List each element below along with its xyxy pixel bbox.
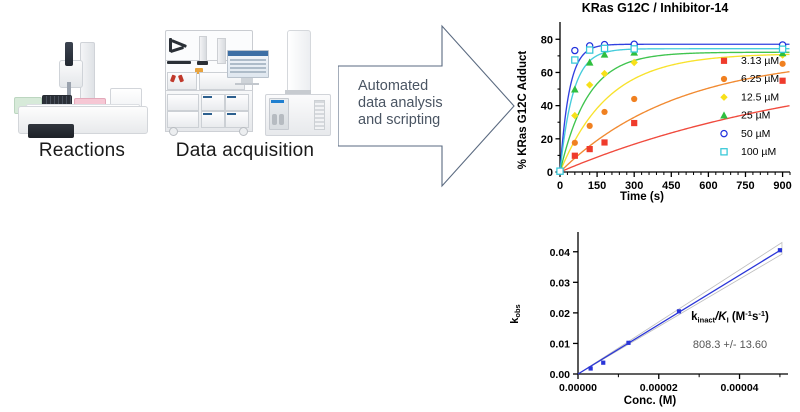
kinetics-y-tick-label: 60 (541, 67, 553, 79)
arrow-caption-line-2: data analysis (358, 95, 462, 112)
data-point-marker (601, 45, 607, 51)
data-point-marker (587, 146, 593, 152)
legend-item-label: 12.5 µM (741, 91, 779, 103)
data-point-marker (677, 309, 681, 313)
data-point-marker (721, 58, 727, 64)
data-point-marker (631, 46, 637, 52)
data-point-marker (572, 57, 578, 63)
data-point-marker (601, 70, 608, 77)
kinetics-x-tick-label: 0 (557, 180, 563, 192)
workflow-stage-data-acquisition: Data acquisition (150, 28, 340, 162)
legend-item-label: 50 µM (741, 128, 770, 140)
mass-spectrometer-icon (265, 28, 329, 136)
linearity-x-tick-label: 0.00004 (721, 382, 759, 394)
linearity-y-tick-label: 0.02 (550, 308, 571, 320)
linearity-y-axis-label: kobs (509, 304, 522, 323)
kinact-ki-value: 808.3 +/- 13.60 (693, 339, 767, 351)
kinetics-chart: KRas G12C / Inhibitor-14 020406080015030… (512, 0, 800, 205)
data-point-marker (589, 366, 593, 370)
data-point-marker (571, 85, 579, 92)
legend-item-label: 25 µM (741, 110, 770, 122)
legend-item-label: 6.25 µM (741, 73, 779, 85)
legend-item-label: 100 µM (741, 146, 776, 158)
data-point-marker (720, 111, 728, 118)
data-point-marker (721, 76, 727, 82)
linearity-y-tick-label: 0.01 (550, 338, 571, 350)
data-point-marker (631, 96, 637, 102)
workflow-figure: Reactions (0, 0, 800, 412)
legend-item: 25 µM (720, 110, 770, 122)
data-point-marker (720, 94, 727, 101)
kinetics-y-tick-label: 40 (541, 101, 553, 113)
linearity-x-tick-label: 0.00002 (640, 382, 678, 394)
stage-label-reactions: Reactions (2, 140, 162, 162)
linearity-y-tick-label: 0.04 (550, 247, 571, 259)
liquid-handler-robot-icon (2, 32, 162, 140)
data-point-marker (601, 139, 607, 145)
stage-label-data-acquisition: Data acquisition (150, 140, 340, 162)
data-point-marker (721, 149, 727, 155)
data-point-marker (586, 59, 594, 66)
linearity-y-tick-label: 0.03 (550, 277, 571, 289)
workflow-stage-reactions: Reactions (2, 32, 162, 162)
data-point-marker (572, 140, 578, 146)
kinetics-x-tick-label: 150 (588, 180, 606, 192)
data-point-marker (779, 61, 785, 67)
arrow-caption: Automated data analysis and scripting (358, 78, 462, 129)
kinetics-x-tick-label: 900 (773, 180, 791, 192)
data-point-marker (587, 47, 593, 53)
kinetics-chart-title: KRas G12C / Inhibitor-14 (582, 1, 729, 15)
data-point-marker (557, 168, 563, 174)
kinetics-axes: 0204060800150300450600750900 (541, 22, 792, 192)
legend-item-label: 3.13 µM (741, 55, 779, 67)
lc-ms-workstation-icon (150, 28, 340, 140)
legend-item: 12.5 µM (720, 91, 779, 103)
kinetics-x-axis-label: Time (s) (620, 191, 664, 203)
arrow-caption-line-3: and scripting (358, 112, 462, 129)
data-point-marker (601, 361, 605, 365)
data-point-marker (779, 78, 785, 84)
data-point-marker (721, 131, 727, 137)
data-point-marker (586, 81, 593, 88)
linearity-x-axis-label: Conc. (M) (624, 395, 677, 407)
linearity-y-tick-label: 0.00 (550, 369, 571, 381)
legend-item: 50 µM (721, 128, 771, 140)
data-point-marker (572, 47, 578, 53)
computer-monitor-icon (227, 50, 267, 84)
legend-item: 100 µM (721, 146, 776, 158)
kinact-ki-annotation: kinact/KI (M-1s-1) (691, 309, 769, 325)
arrow-caption-line-1: Automated (358, 78, 462, 95)
kinetics-x-tick-label: 750 (736, 180, 754, 192)
data-point-marker (571, 112, 578, 119)
kinetics-y-tick-label: 20 (541, 134, 553, 146)
kinetics-y-tick-label: 80 (541, 34, 553, 46)
linearity-chart: 0.000.010.020.030.040.000000.000020.0000… (500, 214, 800, 412)
data-point-marker (601, 109, 607, 115)
data-point-marker (778, 248, 782, 252)
data-point-marker (631, 120, 637, 126)
linearity-x-tick-label: 0.00000 (559, 382, 597, 394)
kinetics-y-tick-label: 0 (547, 167, 553, 179)
kinetics-x-tick-label: 450 (662, 180, 680, 192)
data-point-marker (587, 123, 593, 129)
data-point-marker (572, 153, 578, 159)
data-point-marker (626, 341, 630, 345)
kinetics-x-tick-label: 600 (699, 180, 717, 192)
data-point-marker (779, 46, 785, 52)
kinetics-legend: 3.13 µM6.25 µM12.5 µM25 µM50 µM100 µM (720, 55, 779, 158)
kinetics-y-axis-label: % KRas G12C Adduct (517, 51, 529, 170)
